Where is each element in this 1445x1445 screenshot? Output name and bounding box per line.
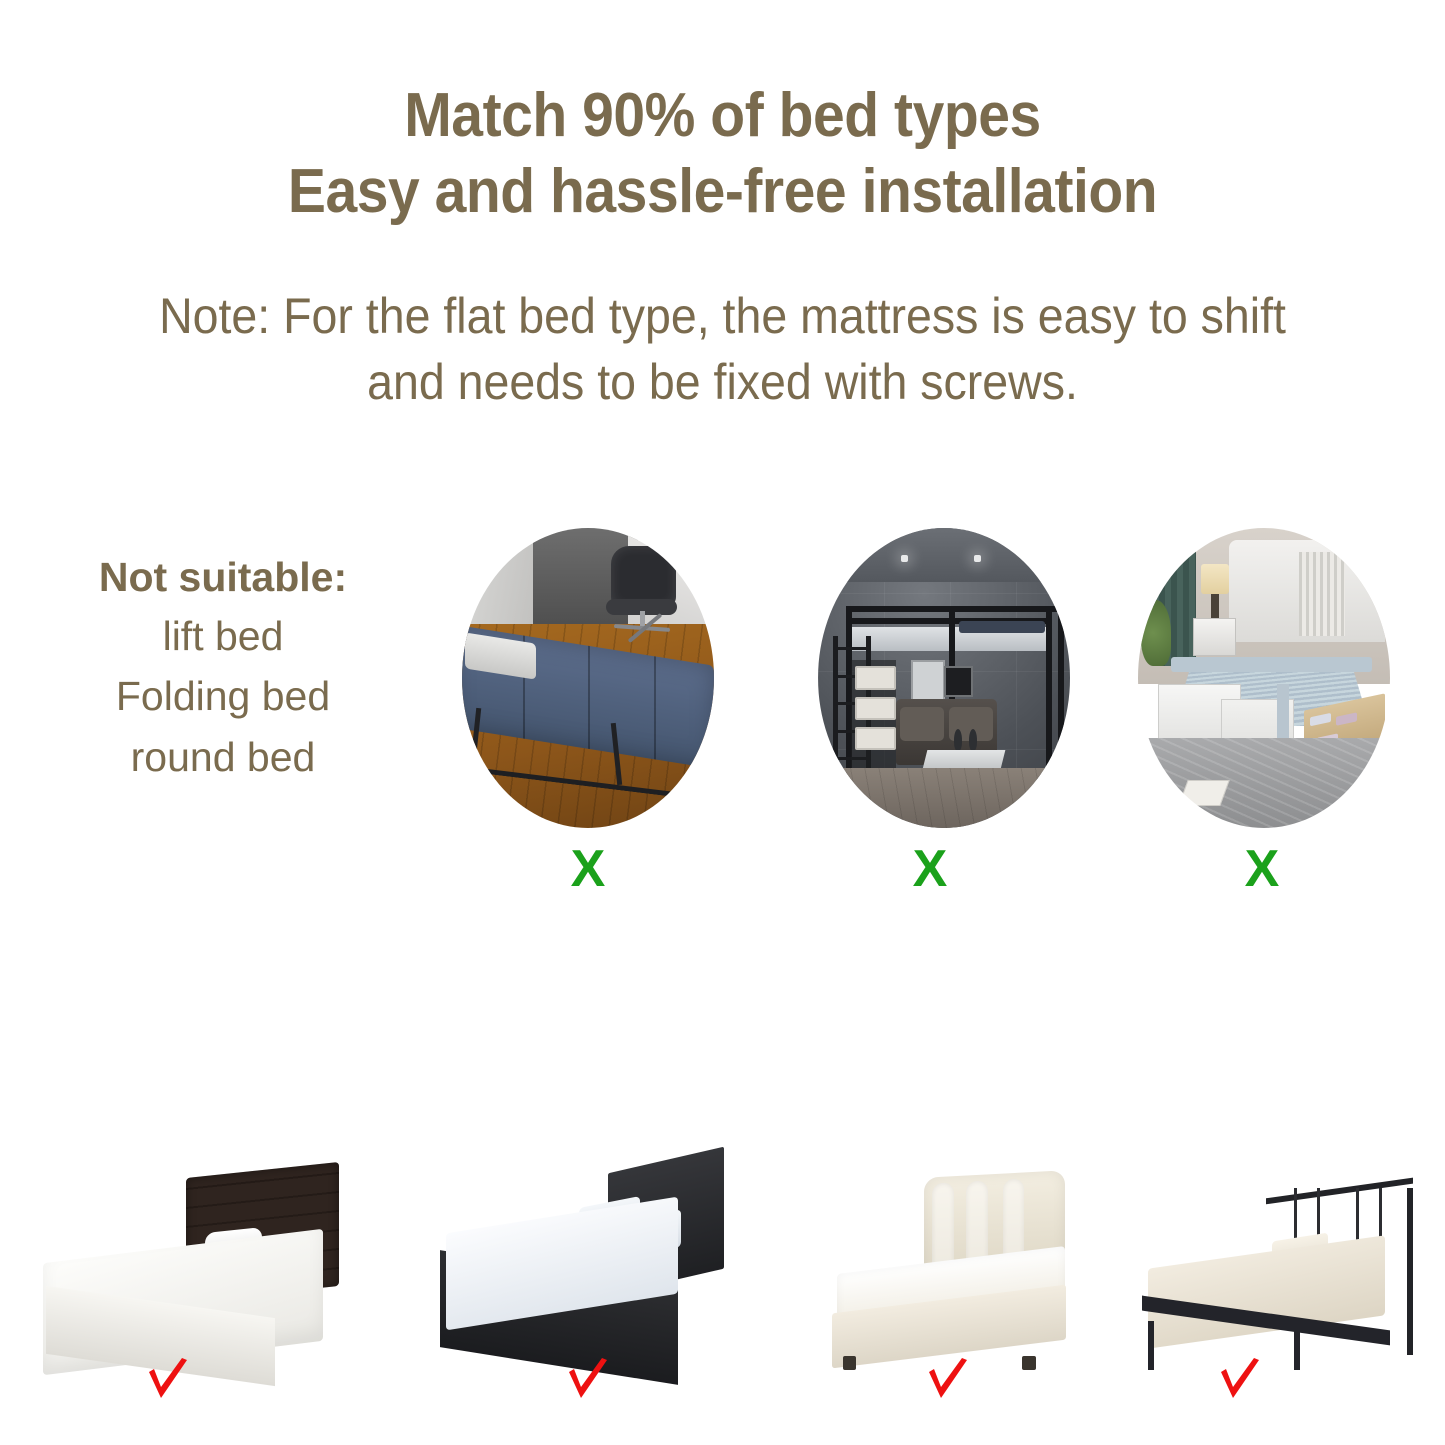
note-text: Note: For the flat bed type, the mattres… <box>51 283 1395 415</box>
suitable-bed-row <box>0 1140 1445 1370</box>
folding-bed <box>462 633 714 789</box>
check-mark-metal-frame-bed <box>1218 1358 1262 1410</box>
x-mark-folding-bed: X <box>558 843 618 895</box>
note-line-1: Note: For the flat bed type, the mattres… <box>51 283 1395 349</box>
wall-niche <box>944 666 973 697</box>
upholstered-cream-bed <box>832 1174 1104 1370</box>
dark-wood-headboard-bed <box>40 1170 358 1370</box>
black-metal-frame-bed <box>1142 1180 1424 1370</box>
not-suitable-photo-row <box>0 528 1445 838</box>
ceiling <box>818 528 1070 582</box>
area-rug <box>1138 738 1390 828</box>
table-lamp <box>1201 564 1229 594</box>
x-mark-lift-bed: X <box>1232 843 1292 895</box>
nightstand <box>1193 618 1235 656</box>
floor <box>818 768 1070 828</box>
check-mark-upholstered-bed <box>926 1358 970 1410</box>
plant <box>1141 600 1171 666</box>
loft-bunk-bed-photo <box>818 528 1070 828</box>
check-mark-black-platform-bed <box>566 1358 610 1410</box>
check-mark-dark-wood-bed <box>146 1358 190 1410</box>
x-mark-loft-bed: X <box>900 843 960 895</box>
page-title: Match 90% of bed types Easy and hassle-f… <box>58 78 1387 229</box>
storage-shelf <box>851 660 896 768</box>
black-platform-bed <box>440 1160 730 1370</box>
lift-storage-bed-photo <box>1138 528 1390 828</box>
note-line-2: and needs to be fixed with screws. <box>51 349 1395 415</box>
folding-bed-photo <box>462 528 714 828</box>
headline-line-1: Match 90% of bed types <box>58 78 1387 154</box>
headline-line-2: Easy and hassle-free installation <box>58 154 1387 230</box>
